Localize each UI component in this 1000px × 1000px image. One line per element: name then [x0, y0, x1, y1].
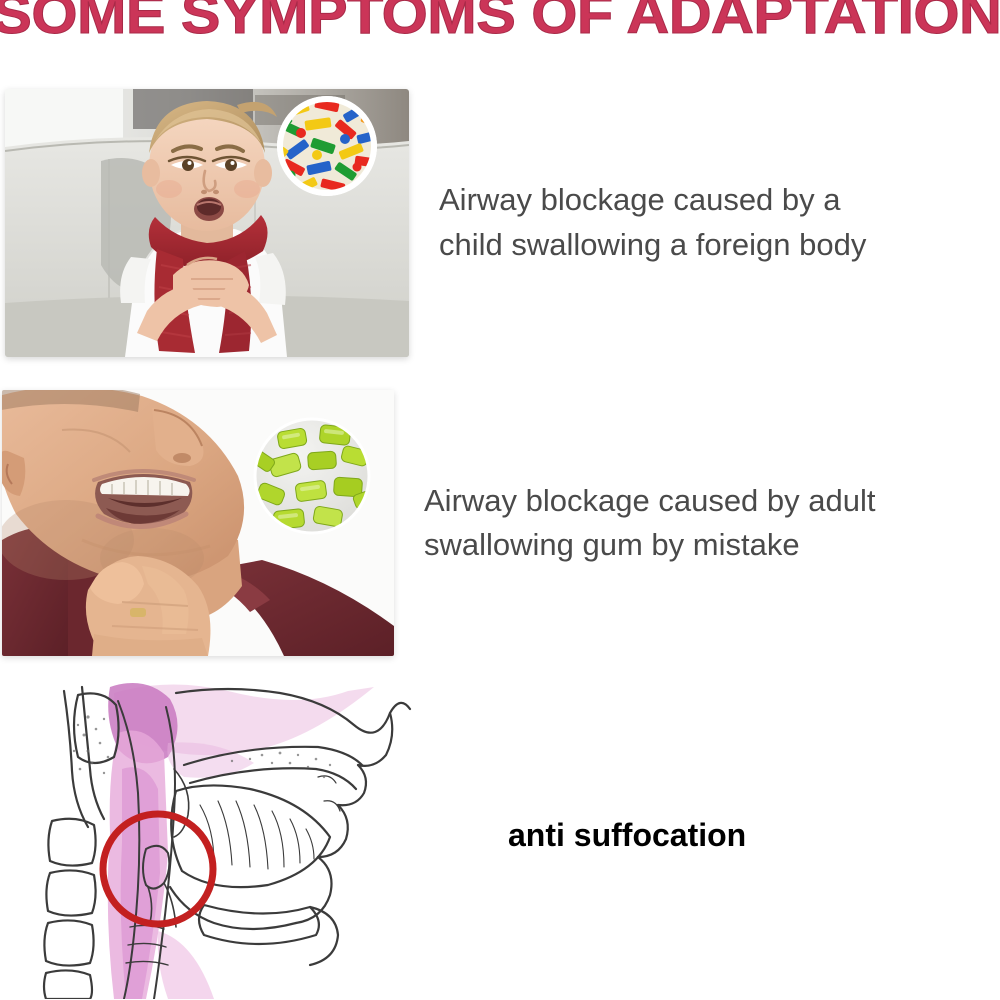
caption-line: swallowing gum by mistake — [424, 523, 970, 567]
caption-anti-suffocation: anti suffocation — [418, 813, 1000, 858]
section-adult-gum: Airway blockage caused by adult swallowi… — [0, 388, 1000, 658]
page-title: SOME SYMPTOMS OF ADAPTATION — [24, 0, 976, 42]
airway-anatomy-diagram — [18, 673, 418, 999]
child-coughing-photo — [5, 89, 409, 357]
title-band: SOME SYMPTOMS OF ADAPTATION — [0, 0, 1000, 56]
caption-adult-gum: Airway blockage caused by adult swallowi… — [394, 479, 1000, 567]
airway-anatomy-illustration — [18, 673, 418, 999]
adult-photo-container — [0, 390, 394, 656]
section-anatomy: anti suffocation — [0, 672, 1000, 1000]
child-photo-container — [0, 89, 409, 357]
section-child-choking: Airway blockage caused by a child swallo… — [0, 85, 1000, 360]
adult-choking-illustration — [2, 390, 394, 656]
caption-line: Airway blockage caused by adult — [424, 479, 970, 523]
child-coughing-illustration — [5, 89, 409, 357]
anatomy-diagram-container — [0, 673, 418, 999]
caption-line: anti suffocation — [508, 813, 970, 858]
infographic-page: SOME SYMPTOMS OF ADAPTATION — [0, 0, 1000, 1000]
page-title-text: SOME SYMPTOMS OF ADAPTATION — [0, 0, 1000, 42]
caption-line: child swallowing a foreign body — [439, 223, 970, 267]
adult-choking-photo — [2, 390, 394, 656]
caption-child-choking: Airway blockage caused by a child swallo… — [409, 178, 1000, 266]
caption-line: Airway blockage caused by a — [439, 178, 970, 222]
